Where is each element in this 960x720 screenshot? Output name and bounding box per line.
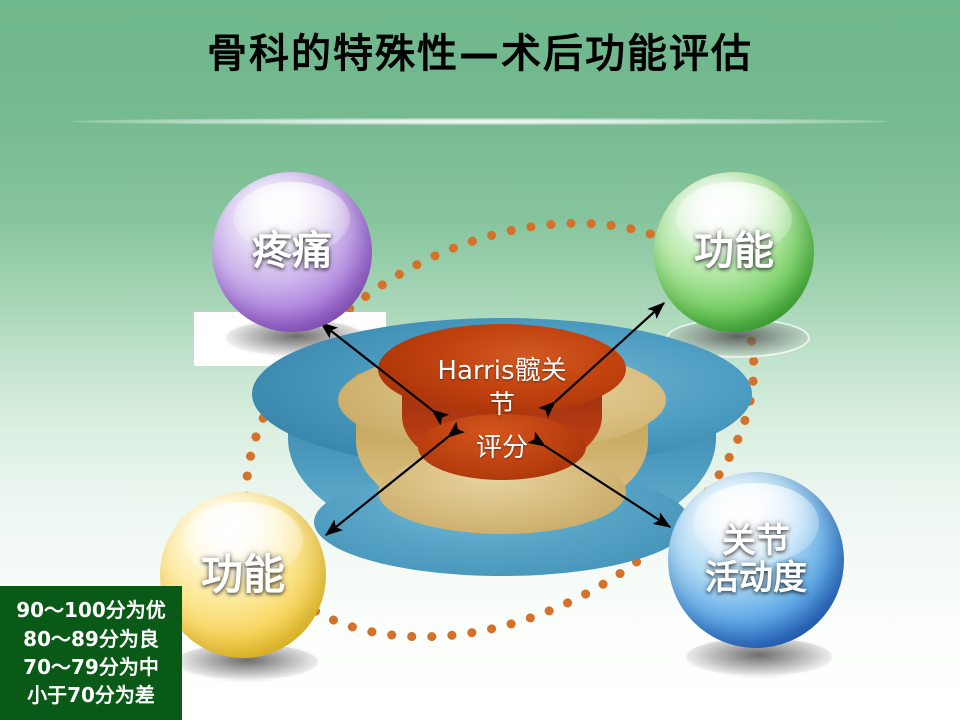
node-function-green-label: 功能 <box>654 172 814 332</box>
arrow-to-pain <box>321 323 432 410</box>
sphere-gloss <box>693 483 820 564</box>
node-pain-label: 疼痛 <box>212 172 372 332</box>
node-rom-label-line2: 活动度 <box>705 560 807 597</box>
legend-line-poor: 小于70分为差 <box>27 681 155 709</box>
node-function-green[interactable]: 功能 <box>654 172 814 332</box>
legend-line-fair: 70～79分为中 <box>23 653 159 681</box>
node-range-of-motion[interactable]: 关节 活动度 <box>668 472 844 648</box>
arrow-to-function-green <box>555 303 664 402</box>
arrow-to-function-yellow <box>326 437 448 535</box>
sphere-gloss <box>183 502 303 578</box>
node-pain[interactable]: 疼痛 <box>212 172 372 332</box>
slide-canvas: 骨科的特殊性—术后功能评估 Harris髋关 节 评分 <box>0 0 960 720</box>
sphere-gloss <box>676 182 791 256</box>
legend-line-excellent: 90～100分为优 <box>16 596 166 624</box>
sphere-gloss <box>234 182 349 256</box>
arrow-to-range-of-motion <box>545 446 670 527</box>
node-rom-label-line1: 关节 <box>722 523 790 560</box>
legend-line-good: 80～89分为良 <box>23 625 159 653</box>
node-function-yellow-label: 功能 <box>160 492 326 658</box>
score-legend: 90～100分为优 80～89分为良 70～79分为中 小于70分为差 <box>0 586 182 720</box>
node-function-yellow[interactable]: 功能 <box>160 492 326 658</box>
node-range-of-motion-label: 关节 活动度 <box>668 472 844 648</box>
